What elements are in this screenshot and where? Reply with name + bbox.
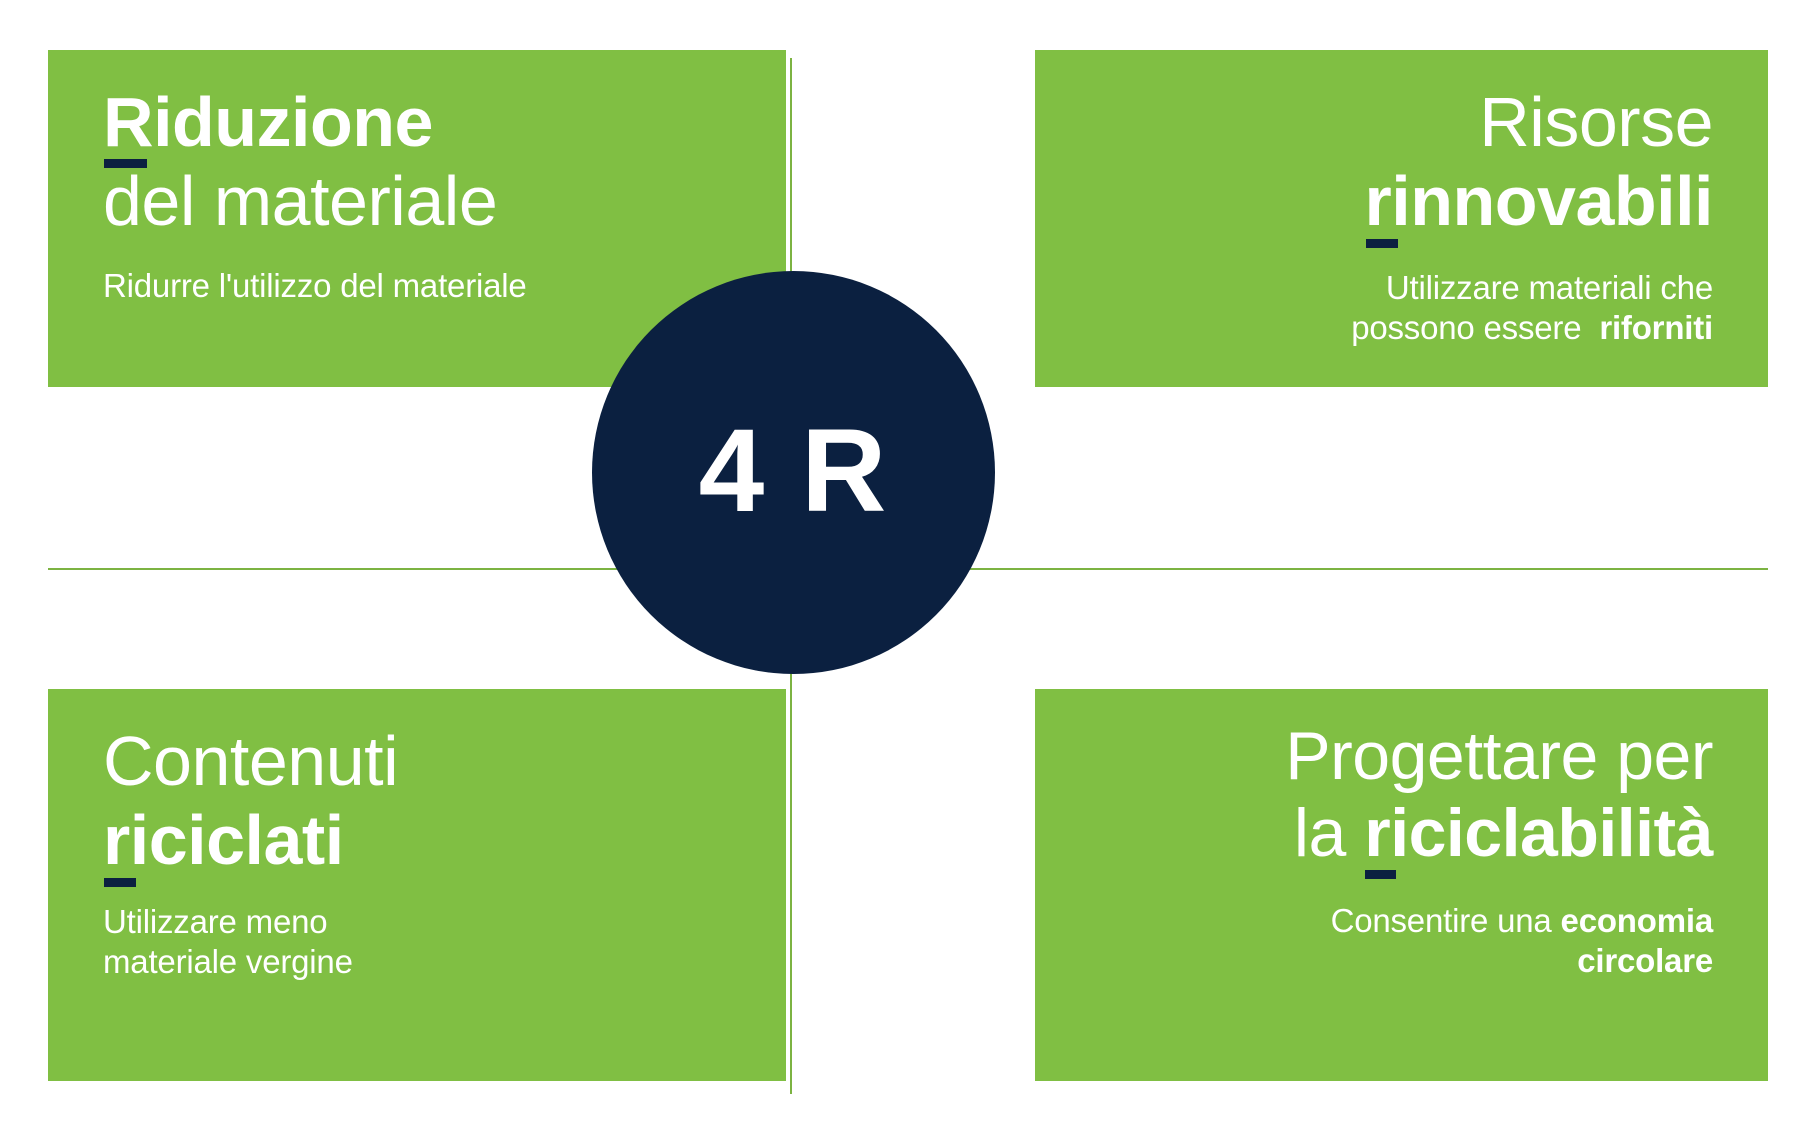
- subtitle-bold: riforniti: [1599, 309, 1713, 346]
- center-circle-label: 4 R: [699, 412, 889, 530]
- heading-lead-letter: r: [103, 801, 130, 879]
- subtitle-bold: circolare: [1577, 942, 1713, 979]
- heading-rest: innovabili: [1391, 162, 1713, 240]
- quadrant-bottom-left-heading-line1: Contenuti: [103, 727, 756, 796]
- subtitle-plain: Consentire una: [1331, 902, 1552, 939]
- underline-mark-top-left: R: [103, 88, 153, 157]
- quadrant-bottom-left: Contenuti riciclati Utilizzare meno mate…: [48, 689, 786, 1081]
- quadrant-top-right-subtitle-line1: Utilizzare materiali che: [1065, 268, 1713, 308]
- infographic-4r: Riduzione del materiale Ridurre l'utiliz…: [0, 0, 1816, 1128]
- center-circle-badge: 4 R: [592, 271, 995, 674]
- heading-prefix: la: [1294, 795, 1364, 871]
- quadrant-top-right-heading-line2: rinnovabili: [1065, 167, 1713, 236]
- underline-mark-bottom-left: r: [103, 806, 130, 875]
- quadrant-bottom-right-heading-line1: Progettare per: [1065, 723, 1713, 790]
- quadrant-bottom-left-heading-line2: riciclati: [103, 806, 756, 875]
- quadrant-top-left-subtitle: Ridurre l'utilizzo del materiale: [103, 266, 756, 306]
- quadrant-top-left-heading-line1: Riduzione: [103, 88, 756, 157]
- quadrant-bottom-right-heading-line2: la riciclabilità: [1065, 800, 1713, 867]
- quadrant-top-right-heading-line1: Risorse: [1065, 88, 1713, 157]
- quadrant-bottom-right-subtitle-line2: circolare: [1065, 941, 1713, 981]
- heading-rest: iduzione: [153, 83, 433, 161]
- quadrant-bottom-right-subtitle-line1: Consentire una economia: [1065, 901, 1713, 941]
- subtitle-bold: economia: [1561, 902, 1713, 939]
- quadrant-top-right-subtitle-line2: possono essere riforniti: [1065, 308, 1713, 348]
- heading-lead-letter: R: [103, 83, 153, 161]
- underline-mark-bottom-right: r: [1364, 800, 1390, 867]
- quadrant-top-left-heading-line2: del materiale: [103, 167, 756, 236]
- subtitle-plain: possono essere: [1351, 309, 1581, 346]
- heading-lead-letter: r: [1364, 795, 1390, 871]
- quadrant-bottom-left-subtitle-line1: Utilizzare meno: [103, 902, 756, 942]
- underline-mark-top-right: r: [1365, 167, 1392, 236]
- quadrant-bottom-left-subtitle-line2: materiale vergine: [103, 942, 756, 982]
- heading-lead-letter: r: [1365, 162, 1392, 240]
- quadrant-bottom-right: Progettare per la riciclabilità Consenti…: [1035, 689, 1768, 1081]
- heading-rest: iciclati: [130, 801, 344, 879]
- quadrant-top-right: Risorse rinnovabili Utilizzare materiali…: [1035, 50, 1768, 387]
- heading-rest: iciclabilità: [1390, 795, 1713, 871]
